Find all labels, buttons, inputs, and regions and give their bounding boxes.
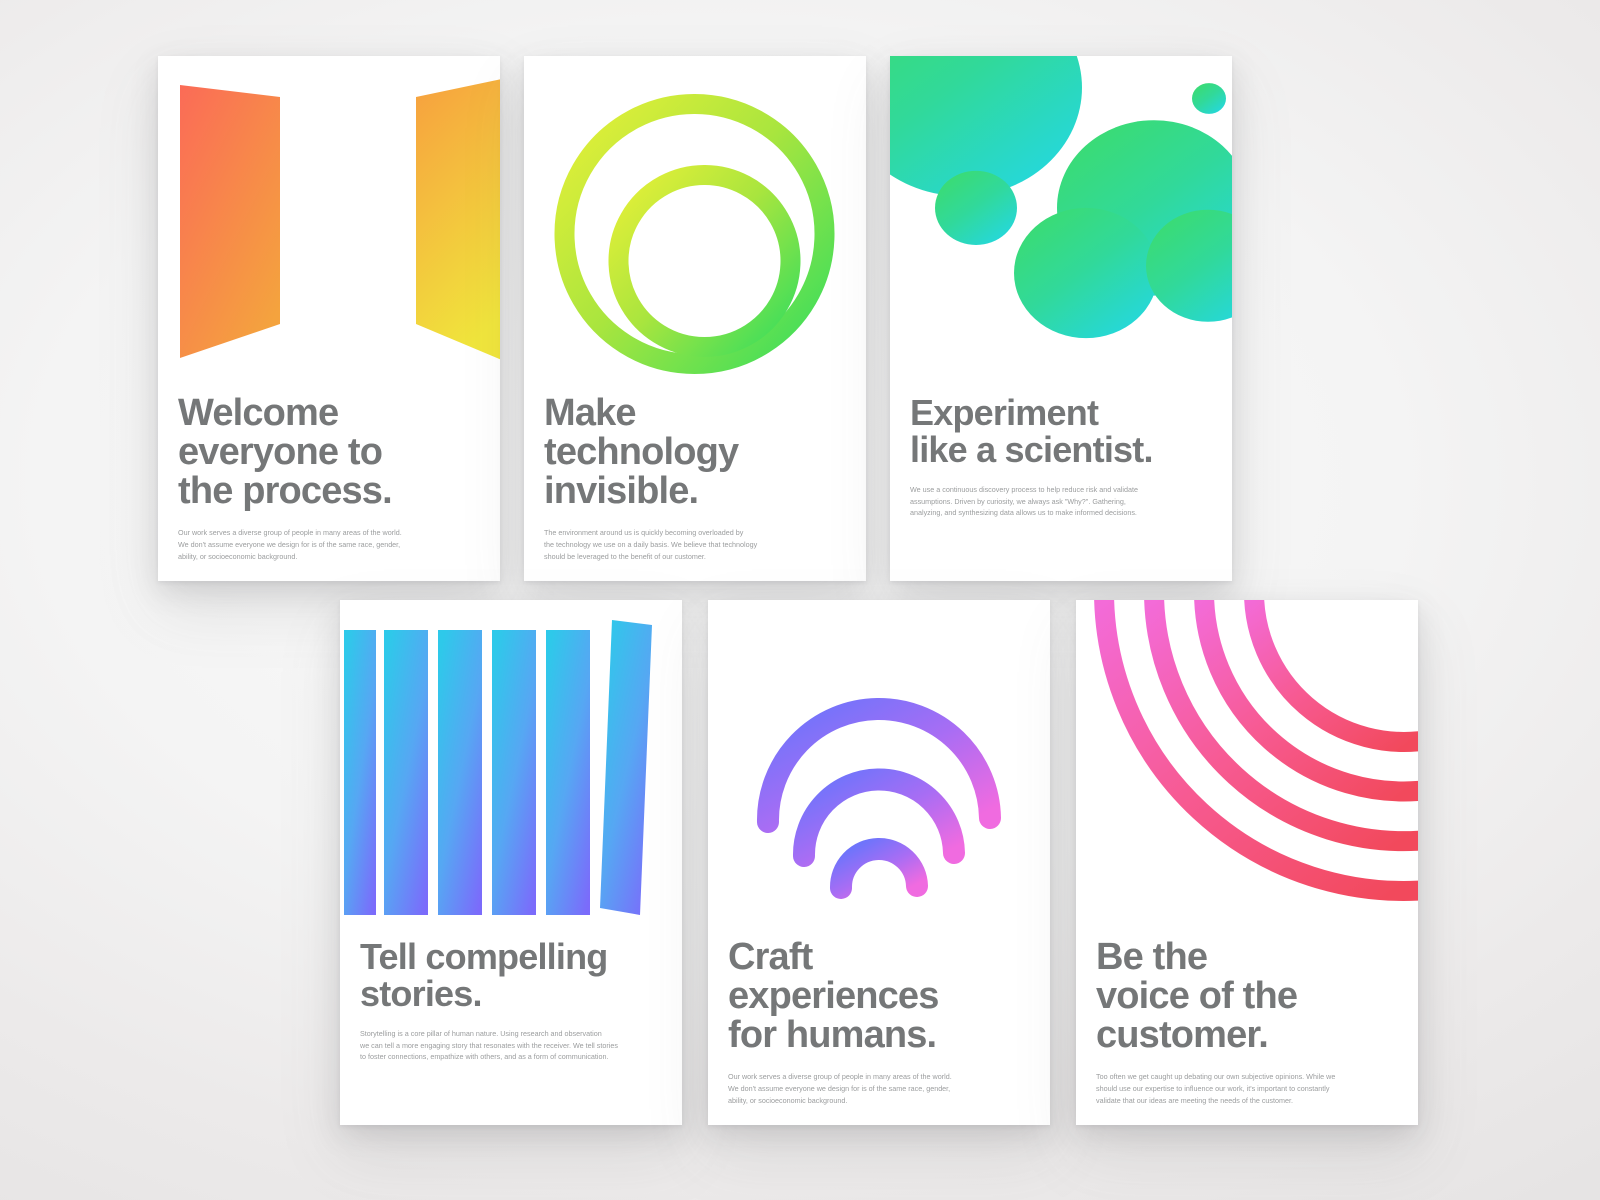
fingerprint-graphic	[708, 612, 1050, 912]
poster-text-craft: Craft experiences for humans. Our work s…	[708, 938, 1050, 1106]
poster-headline: Tell compelling stories.	[360, 938, 662, 1012]
poster-headline: Experiment like a scientist.	[910, 394, 1212, 468]
bubbles-graphic	[890, 56, 1232, 386]
poster-body: Too often we get caught up debating our …	[1096, 1071, 1398, 1106]
poster-text-welcome: Welcome everyone to the process. Our wor…	[158, 394, 500, 562]
poster-headline: Be the voice of the customer.	[1096, 938, 1398, 1055]
poster-headline: Make technology invisible.	[544, 394, 846, 511]
poster-body: Storytelling is a core pillar of human n…	[360, 1028, 662, 1063]
poster-stories[interactable]: Tell compelling stories. Storytelling is…	[340, 600, 682, 1125]
poster-welcome[interactable]: Welcome everyone to the process. Our wor…	[158, 56, 500, 581]
poster-headline: Welcome everyone to the process.	[178, 394, 480, 511]
sound-waves-graphic	[1076, 600, 1418, 920]
poster-headline: Craft experiences for humans.	[728, 938, 1030, 1055]
poster-experiment[interactable]: Experiment like a scientist. We use a co…	[890, 56, 1232, 581]
books-on-shelf-graphic	[340, 618, 682, 918]
poster-text-technology: Make technology invisible. The environme…	[524, 394, 866, 562]
poster-board: Welcome everyone to the process. Our wor…	[0, 0, 1600, 1200]
open-doors-graphic	[158, 56, 500, 386]
poster-text-voice: Be the voice of the customer. Too often …	[1076, 938, 1418, 1106]
poster-text-stories: Tell compelling stories. Storytelling is…	[340, 938, 682, 1063]
poster-craft[interactable]: Craft experiences for humans. Our work s…	[708, 600, 1050, 1125]
spiral-rings-graphic	[524, 56, 866, 386]
poster-text-experiment: Experiment like a scientist. We use a co…	[890, 394, 1232, 519]
poster-body: Our work serves a diverse group of peopl…	[728, 1071, 1030, 1106]
poster-body: The environment around us is quickly bec…	[544, 527, 846, 562]
poster-voice[interactable]: Be the voice of the customer. Too often …	[1076, 600, 1418, 1125]
poster-body: We use a continuous discovery process to…	[910, 484, 1212, 519]
poster-body: Our work serves a diverse group of peopl…	[178, 527, 480, 562]
poster-technology[interactable]: Make technology invisible. The environme…	[524, 56, 866, 581]
